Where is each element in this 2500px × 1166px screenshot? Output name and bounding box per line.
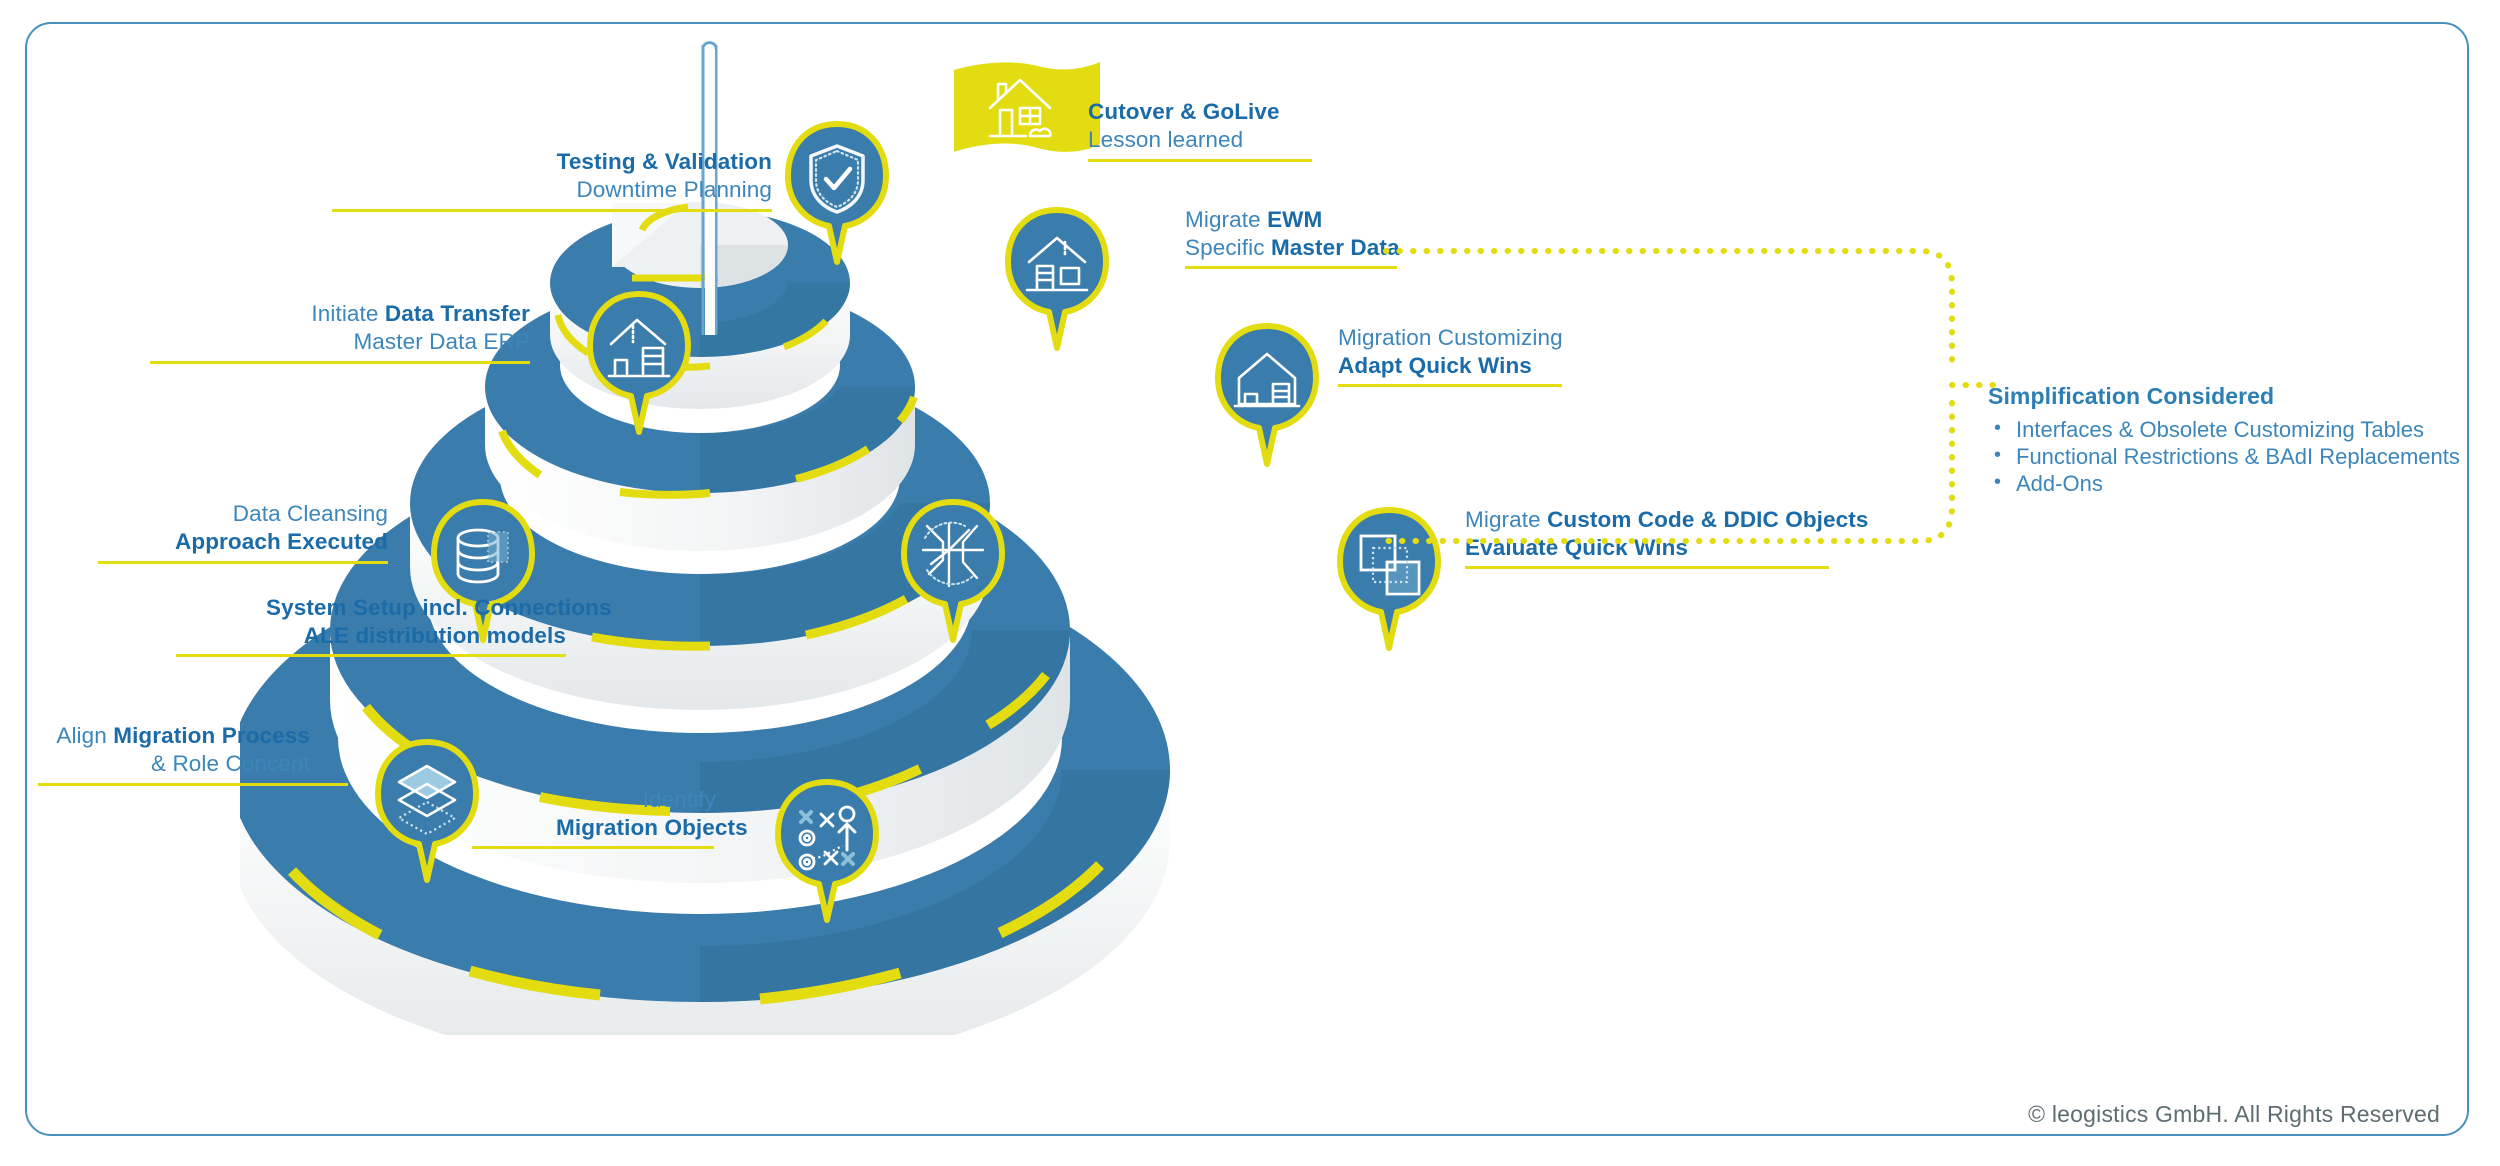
callout-rule: [1338, 384, 1562, 387]
callout-rule: [1185, 266, 1397, 269]
callout-line-2: Migration Objects: [556, 814, 716, 842]
callout-line-1: Identify: [556, 786, 716, 814]
callout-line-1: Migrate Custom Code & DDIC Objects: [1465, 506, 1827, 534]
callout-line-1: Align Migration Process: [40, 722, 310, 750]
callout-cutover-golive: Cutover & GoLive Lesson learned: [1088, 98, 1308, 162]
callout-line-2: & Role Concept: [40, 750, 310, 778]
simplification-considered-block: Simplification Considered Interfaces & O…: [1988, 382, 2460, 497]
pin-migrate-custom-code[interactable]: [1334, 506, 1444, 652]
pin-migrate-ewm[interactable]: [1002, 206, 1112, 352]
callout-line-1: Migration Customizing: [1338, 324, 1560, 352]
simplification-title: Simplification Considered: [1988, 382, 2460, 410]
simplification-list: Interfaces & Obsolete Customizing Tables…: [1988, 416, 2460, 497]
callout-line-1: Cutover & GoLive: [1088, 98, 1308, 126]
callout-rule: [98, 561, 388, 564]
callout-migrate-custom-code: Migrate Custom Code & DDIC Objects Evalu…: [1465, 506, 1827, 569]
callout-line-2: Adapt Quick Wins: [1338, 352, 1560, 380]
callout-rule: [472, 846, 714, 849]
callout-line-2: Master Data ERP: [200, 328, 530, 356]
callout-line-1: Initiate Data Transfer: [200, 300, 530, 328]
callout-line-2: Specific Master Data: [1185, 234, 1395, 262]
copyright-footer: © leogistics GmbH. All Rights Reserved: [2028, 1101, 2440, 1128]
callout-migration-customizing: Migration Customizing Adapt Quick Wins: [1338, 324, 1560, 387]
callout-line-2: Evaluate Quick Wins: [1465, 534, 1827, 562]
callout-rule: [1088, 159, 1312, 162]
callout-rule: [150, 361, 530, 364]
pin-testing-validation[interactable]: [782, 120, 892, 266]
callout-line-2: Approach Executed: [118, 528, 388, 556]
callout-line-1: Testing & Validation: [332, 148, 772, 176]
callout-line-1: System Setup incl. Connections: [266, 594, 566, 622]
callout-rule: [332, 209, 772, 212]
callout-rule: [38, 783, 348, 786]
callout-rule: [176, 654, 566, 657]
callout-rule: [1465, 566, 1829, 569]
callout-line-2: Downtime Planning: [332, 176, 772, 204]
callout-system-setup: System Setup incl. Connections ALE distr…: [266, 594, 566, 657]
pin-align-migration-process[interactable]: [372, 738, 482, 884]
pin-migration-customizing[interactable]: [1212, 322, 1322, 468]
callout-align-migration-process: Align Migration Process & Role Concept: [40, 722, 310, 786]
callout-data-cleansing: Data Cleansing Approach Executed: [118, 500, 388, 564]
pin-identify-migration-objects[interactable]: [772, 778, 882, 924]
infographic-canvas: Testing & Validation Downtime Planning C…: [0, 0, 2500, 1166]
cutover-flag: [948, 52, 1108, 182]
callout-initiate-data-transfer: Initiate Data Transfer Master Data ERP: [200, 300, 530, 364]
callout-migrate-ewm: Migrate EWM Specific Master Data: [1185, 206, 1395, 269]
callout-testing-validation: Testing & Validation Downtime Planning: [332, 148, 772, 212]
callout-line-2: ALE distribution models: [266, 622, 566, 650]
callout-identify-migration-objects: Identify Migration Objects: [556, 786, 716, 849]
callout-line-2: Lesson learned: [1088, 126, 1308, 154]
callout-line-1: Data Cleansing: [118, 500, 388, 528]
list-item: Interfaces & Obsolete Customizing Tables: [1988, 416, 2460, 443]
pin-system-setup[interactable]: [898, 498, 1008, 644]
pin-initiate-data-transfer[interactable]: [584, 290, 694, 436]
callout-line-1: Migrate EWM: [1185, 206, 1395, 234]
list-item: Functional Restrictions & BAdI Replaceme…: [1988, 443, 2460, 470]
list-item: Add-Ons: [1988, 470, 2460, 497]
